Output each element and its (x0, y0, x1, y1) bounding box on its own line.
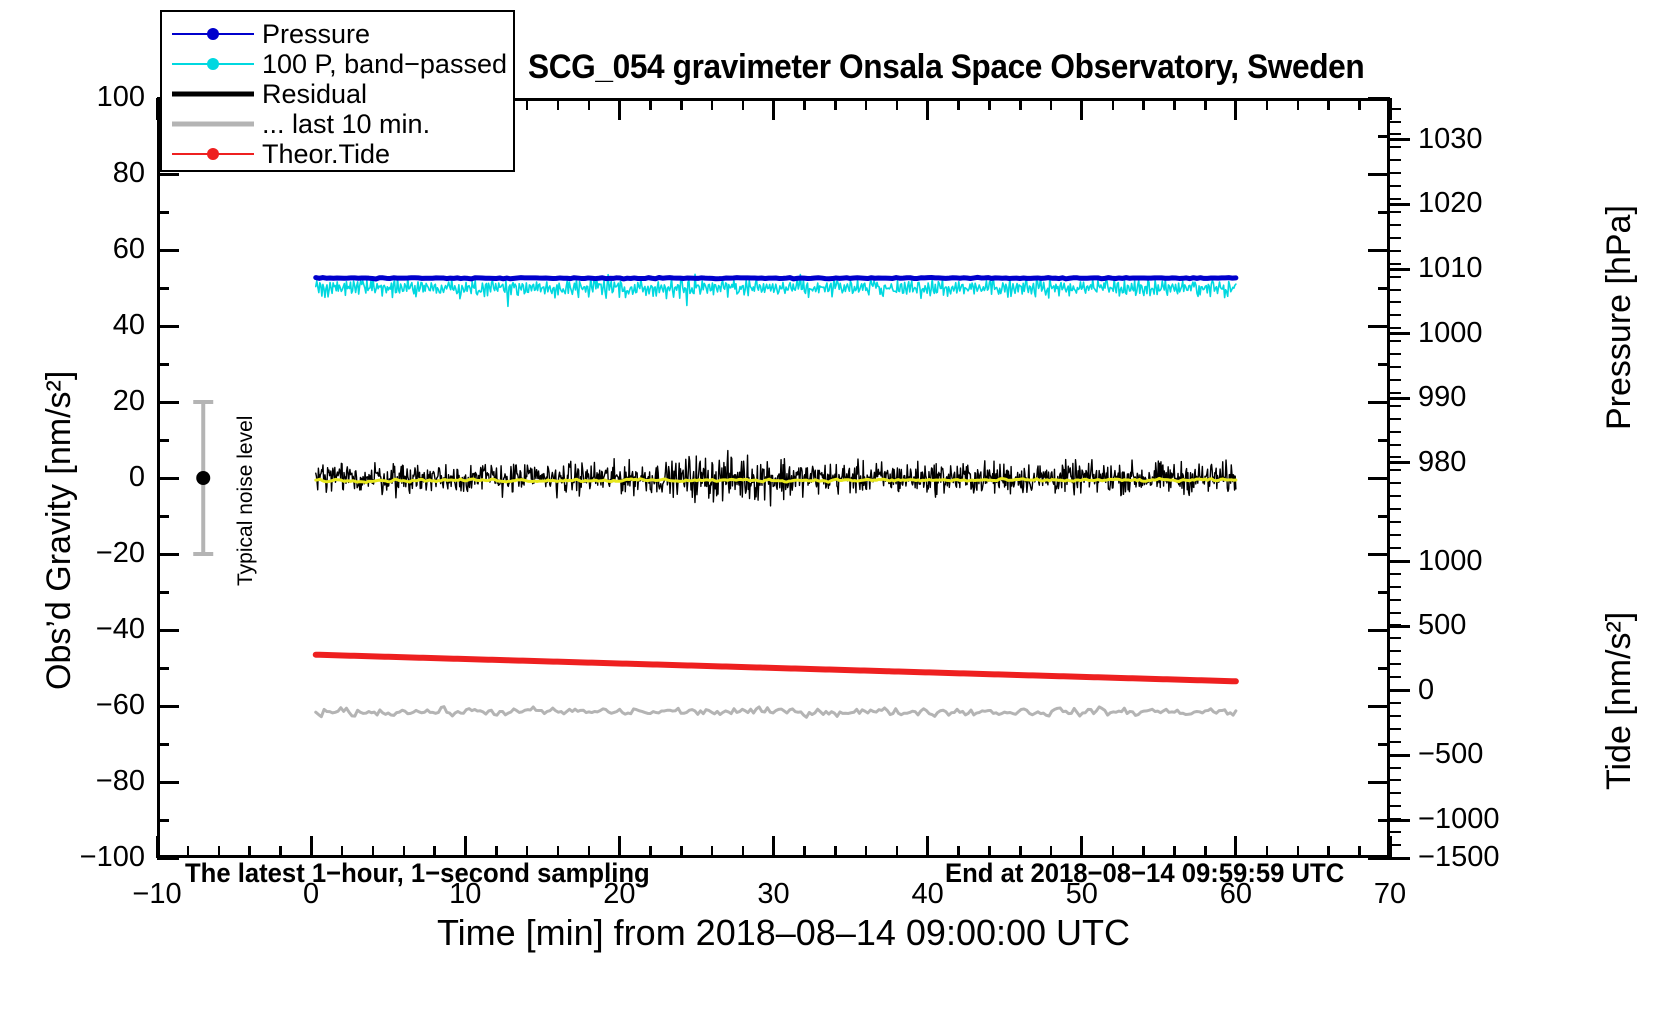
tick-mark (248, 846, 251, 858)
footer-right-note: End at 2018−08−14 09:59:59 UTC (945, 858, 1344, 889)
tick-mark (1378, 439, 1390, 442)
tick-mark (187, 846, 190, 858)
tick-mark (1390, 676, 1401, 678)
tick-mark (1173, 846, 1176, 858)
tick-mark (157, 173, 179, 176)
tide-tick-label: −1500 (1418, 843, 1538, 872)
tick-mark (1112, 98, 1115, 110)
tick-mark (495, 846, 498, 858)
tick-mark (896, 98, 899, 110)
tick-mark (1390, 805, 1401, 807)
tick-mark (588, 98, 591, 110)
x-tick-label: 70 (1330, 880, 1450, 909)
tick-mark (1378, 667, 1390, 670)
tick-mark (157, 667, 169, 670)
tick-mark (526, 846, 529, 858)
tick-mark (957, 98, 960, 110)
tick-mark (1378, 135, 1390, 138)
y-axis-title-pressure: Pressure [hPa] (1600, 205, 1639, 430)
tick-mark (157, 211, 169, 214)
legend-label-pressure: Pressure (262, 21, 370, 48)
y-tick-label: 80 (5, 159, 145, 188)
tick-mark (1234, 98, 1237, 120)
tick-mark (1390, 108, 1401, 110)
y-tick-label: −80 (5, 767, 145, 796)
tick-mark (1390, 599, 1401, 601)
tick-mark (1204, 846, 1207, 858)
tide-tick-label: 1000 (1418, 547, 1538, 576)
legend-swatch-theortide (172, 143, 254, 165)
tick-mark (1378, 363, 1390, 366)
tick-mark (1390, 237, 1401, 239)
tick-mark (1368, 553, 1390, 556)
tick-mark (1368, 249, 1390, 252)
x-axis-title: Time [min] from 2018–08–14 09:00:00 UTC (437, 912, 1130, 954)
tide-tick-label: −500 (1418, 740, 1538, 769)
tick-mark (1390, 741, 1401, 743)
tick-mark (1390, 431, 1401, 433)
tick-mark (1390, 767, 1401, 769)
tick-mark (1390, 573, 1401, 575)
tick-mark (157, 325, 179, 328)
tick-mark (157, 287, 169, 290)
tick-mark (1327, 846, 1330, 858)
tick-mark (1390, 418, 1401, 420)
tick-mark (742, 846, 745, 858)
tick-mark (803, 98, 806, 110)
tick-mark (1390, 844, 1401, 846)
tick-mark (1390, 663, 1401, 665)
legend-swatch-bandpassed (172, 53, 254, 75)
legend-marker-bandpassed (207, 58, 219, 70)
tick-mark (1390, 397, 1410, 400)
tick-mark (1368, 857, 1390, 860)
tick-mark (1390, 534, 1401, 536)
tick-mark (649, 846, 652, 858)
tick-mark (1112, 846, 1115, 858)
legend-label-theortide: Theor.Tide (262, 141, 390, 168)
y-axis-title-tide: Tide [nm/s²] (1600, 612, 1639, 790)
pressure-tick-label: 990 (1418, 383, 1538, 412)
tick-mark (157, 857, 179, 860)
tick-mark (1173, 98, 1176, 110)
tick-mark (772, 98, 775, 120)
tick-mark (1390, 159, 1401, 161)
tick-mark (618, 836, 621, 858)
tick-mark (1390, 224, 1401, 226)
tick-mark (341, 846, 344, 858)
tick-mark (1378, 743, 1390, 746)
tick-mark (1142, 846, 1145, 858)
tick-mark (1390, 250, 1401, 252)
tick-mark (803, 846, 806, 858)
tick-mark (1390, 779, 1401, 781)
tick-mark (1368, 97, 1390, 100)
typical-noise-level-indicator (170, 380, 230, 600)
tick-mark (1378, 211, 1390, 214)
tick-mark (1390, 482, 1401, 484)
tick-mark (1390, 560, 1410, 563)
tick-mark (1390, 637, 1401, 639)
tick-mark (988, 846, 991, 858)
y-tick-label: −100 (5, 843, 145, 872)
chart-canvas: SCG_054 gravimeter Onsala Space Observat… (0, 0, 1660, 1020)
tick-mark (1368, 401, 1390, 404)
tick-mark (1389, 836, 1392, 858)
tick-mark (218, 846, 221, 858)
typical-noise-level-label: Typical noise level (234, 416, 258, 586)
tick-mark (1019, 846, 1022, 858)
tick-mark (711, 846, 714, 858)
noise-center-dot (196, 471, 210, 485)
tick-mark (1390, 728, 1401, 730)
y-tick-label: −60 (5, 691, 145, 720)
legend-item-pressure[interactable]: Pressure (172, 19, 503, 49)
tick-mark (1390, 819, 1410, 822)
tick-mark (680, 846, 683, 858)
tick-mark (1390, 586, 1401, 588)
tick-mark (157, 439, 169, 442)
y-tick-label: 60 (5, 235, 145, 264)
tick-mark (157, 781, 179, 784)
tick-mark (865, 98, 868, 110)
tick-mark (157, 629, 179, 632)
tick-mark (1390, 857, 1410, 860)
tick-mark (926, 836, 929, 858)
tick-mark (157, 363, 169, 366)
pressure-tick-label: 1000 (1418, 319, 1538, 348)
tick-mark (1266, 98, 1269, 110)
tick-mark (1390, 702, 1401, 704)
tick-mark (1390, 185, 1401, 187)
legend-line-residual (172, 92, 254, 97)
tick-mark (1390, 379, 1401, 381)
tick-mark (1050, 98, 1053, 110)
tick-mark (1368, 705, 1390, 708)
tick-mark (1358, 98, 1361, 110)
tick-mark (711, 98, 714, 110)
tick-mark (1390, 198, 1401, 200)
tick-mark (403, 846, 406, 858)
pressure-tick-label: 1010 (1418, 254, 1538, 283)
tick-mark (1390, 469, 1401, 471)
tick-mark (1378, 515, 1390, 518)
legend-item-theortide[interactable]: Theor.Tide (172, 139, 503, 169)
footer-left-note: The latest 1−hour, 1−second sampling (185, 858, 650, 889)
tick-mark (1266, 846, 1269, 858)
tick-mark (1390, 340, 1401, 342)
tick-mark (1234, 836, 1237, 858)
tick-mark (1378, 591, 1390, 594)
tick-mark (1390, 353, 1401, 355)
tick-mark (1378, 819, 1390, 822)
tick-mark (1390, 547, 1401, 549)
tick-mark (1080, 98, 1083, 120)
tick-mark (1297, 846, 1300, 858)
trace-pressure (316, 277, 1236, 279)
tick-mark (1390, 211, 1401, 213)
legend-item-last10min[interactable]: ... last 10 min. (172, 109, 503, 139)
tick-mark (1368, 629, 1390, 632)
tick-mark (1019, 98, 1022, 110)
tick-mark (1390, 495, 1401, 497)
tide-tick-label: 0 (1418, 676, 1538, 705)
tick-mark (1390, 301, 1401, 303)
tick-mark (1390, 133, 1401, 135)
legend-swatch-pressure (172, 23, 254, 45)
tick-mark (1390, 650, 1401, 652)
tick-mark (1390, 831, 1401, 833)
tick-mark (1390, 392, 1401, 394)
tick-mark (156, 836, 159, 858)
pressure-tick-label: 1030 (1418, 125, 1538, 154)
chart-title: SCG_054 gravimeter Onsala Space Observat… (528, 48, 1364, 87)
tick-mark (526, 98, 529, 110)
tick-mark (157, 705, 179, 708)
tick-mark (1327, 98, 1330, 110)
tick-mark (1390, 146, 1401, 148)
tick-mark (1368, 781, 1390, 784)
x-tick-label: 30 (714, 880, 834, 909)
tick-mark (988, 98, 991, 110)
legend-line-last10min (172, 122, 254, 127)
trace-last-10-min (316, 707, 1236, 718)
tick-mark (557, 846, 560, 858)
tick-mark (157, 743, 169, 746)
tick-mark (618, 98, 621, 120)
trace-theoretical-tide (316, 655, 1236, 682)
tick-mark (1390, 263, 1401, 265)
pressure-tick-label: 980 (1418, 448, 1538, 477)
tick-mark (926, 98, 929, 120)
pressure-tick-label: 1020 (1418, 189, 1538, 218)
tick-mark (1390, 521, 1401, 523)
tick-mark (157, 819, 169, 822)
tick-mark (310, 836, 313, 858)
tide-tick-label: 500 (1418, 611, 1538, 640)
tick-mark (1368, 173, 1390, 176)
tick-mark (742, 98, 745, 110)
tick-mark (1390, 276, 1401, 278)
legend-item-residual[interactable]: Residual (172, 79, 503, 109)
tick-mark (1390, 461, 1410, 464)
tick-mark (834, 98, 837, 110)
tick-mark (1390, 625, 1410, 628)
tick-mark (1390, 327, 1401, 329)
tick-mark (834, 846, 837, 858)
tick-mark (772, 836, 775, 858)
tick-mark (1390, 121, 1401, 123)
tick-mark (1297, 98, 1300, 110)
tick-mark (680, 98, 683, 110)
tick-mark (1390, 612, 1401, 614)
tick-mark (279, 846, 282, 858)
tick-mark (1358, 846, 1361, 858)
tick-mark (157, 249, 179, 252)
legend-label-bandpassed: 100 P, band−passed (262, 51, 507, 78)
tick-mark (1204, 98, 1207, 110)
tick-mark (1390, 508, 1401, 510)
tick-mark (1390, 405, 1401, 407)
plot-traces (157, 98, 1390, 858)
tick-mark (157, 515, 169, 518)
legend-label-residual: Residual (262, 81, 367, 108)
tick-mark (1368, 325, 1390, 328)
tick-mark (588, 846, 591, 858)
tick-mark (865, 846, 868, 858)
legend-swatch-last10min (172, 113, 254, 135)
tick-mark (1142, 98, 1145, 110)
tick-mark (372, 846, 375, 858)
tick-mark (1390, 754, 1410, 757)
y-tick-label: 100 (5, 83, 145, 112)
legend: Pressure 100 P, band−passed Residual ...… (160, 10, 515, 172)
tick-mark (157, 591, 169, 594)
tick-mark (1390, 203, 1410, 206)
tick-mark (1390, 456, 1401, 458)
tide-tick-label: −1000 (1418, 805, 1538, 834)
tick-mark (464, 836, 467, 858)
tick-mark (433, 846, 436, 858)
tick-mark (1390, 689, 1410, 692)
tick-mark (649, 98, 652, 110)
tick-mark (1390, 792, 1401, 794)
tick-mark (1390, 172, 1401, 174)
tick-mark (1368, 477, 1390, 480)
tick-mark (557, 98, 560, 110)
tick-mark (1390, 314, 1401, 316)
tick-mark (1390, 366, 1401, 368)
tick-mark (1390, 715, 1401, 717)
tick-mark (1390, 268, 1410, 271)
tick-mark (1378, 287, 1390, 290)
tick-mark (957, 846, 960, 858)
legend-item-bandpassed[interactable]: 100 P, band−passed (172, 49, 503, 79)
tick-mark (1050, 846, 1053, 858)
legend-marker-pressure (207, 28, 219, 40)
legend-label-last10min: ... last 10 min. (262, 111, 430, 138)
legend-swatch-residual (172, 83, 254, 105)
y-axis-title-left: Obs’d Gravity [nm/s²] (40, 371, 79, 690)
tick-mark (1390, 444, 1401, 446)
tick-mark (1390, 289, 1401, 291)
tick-mark (1390, 332, 1410, 335)
y-tick-label: 40 (5, 311, 145, 340)
legend-marker-theortide (207, 148, 219, 160)
tick-mark (896, 846, 899, 858)
tick-mark (156, 98, 159, 120)
tick-mark (1390, 138, 1410, 141)
tick-mark (1080, 836, 1083, 858)
